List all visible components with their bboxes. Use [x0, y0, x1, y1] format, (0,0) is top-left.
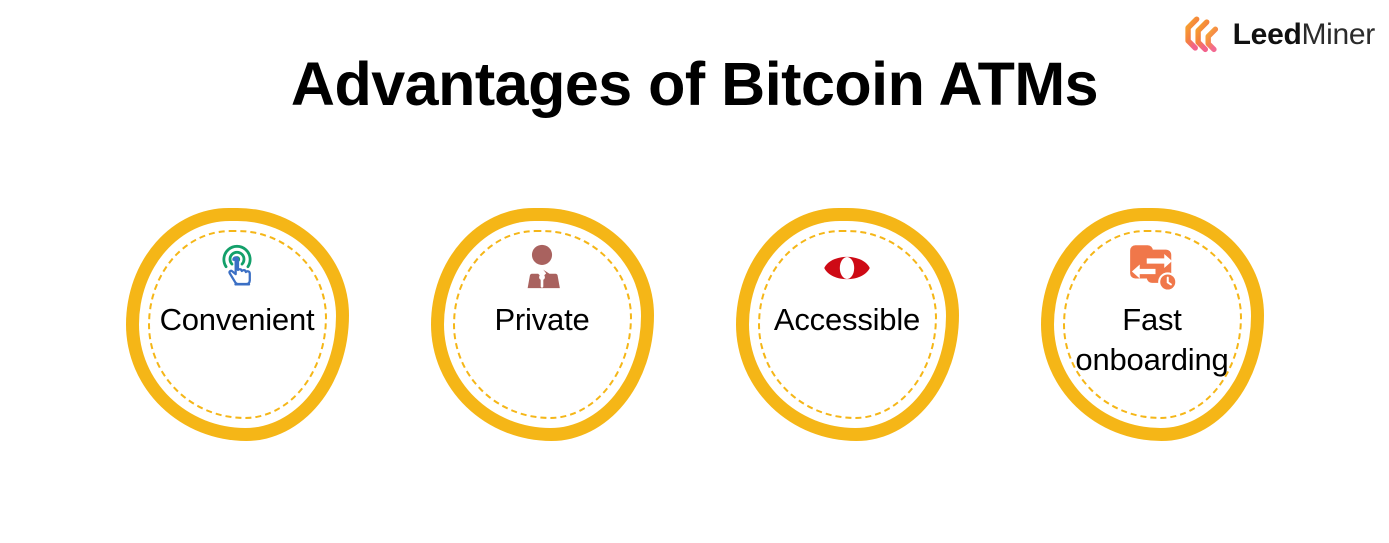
badge-convenient[interactable]: Convenient — [126, 208, 349, 441]
transfer-clock-icon — [1124, 240, 1180, 296]
badge-content: Accessible — [736, 208, 959, 441]
badge-content: Private — [431, 208, 654, 441]
page-title: Advantages of Bitcoin ATMs — [0, 52, 1389, 116]
badge-label: Private — [494, 300, 589, 340]
brand-wordmark: LeedMiner — [1233, 20, 1375, 50]
badge-label: Convenient — [160, 300, 315, 340]
tap-hand-icon — [209, 240, 265, 296]
person-keyhole-icon — [514, 240, 570, 296]
advantages-badge-row: Convenient Private Accessib — [0, 208, 1389, 444]
badge-label: Accessible — [774, 300, 920, 340]
badge-private[interactable]: Private — [431, 208, 654, 441]
badge-label: Fast onboarding — [1075, 300, 1228, 379]
eye-icon — [819, 240, 875, 296]
badge-accessible[interactable]: Accessible — [736, 208, 959, 441]
badge-content: Convenient — [126, 208, 349, 441]
brand-word-light: Miner — [1301, 18, 1375, 51]
brand-word-strong: Leed — [1233, 18, 1302, 51]
badge-fast-onboarding[interactable]: Fast onboarding — [1041, 208, 1264, 441]
badge-content: Fast onboarding — [1041, 208, 1264, 441]
